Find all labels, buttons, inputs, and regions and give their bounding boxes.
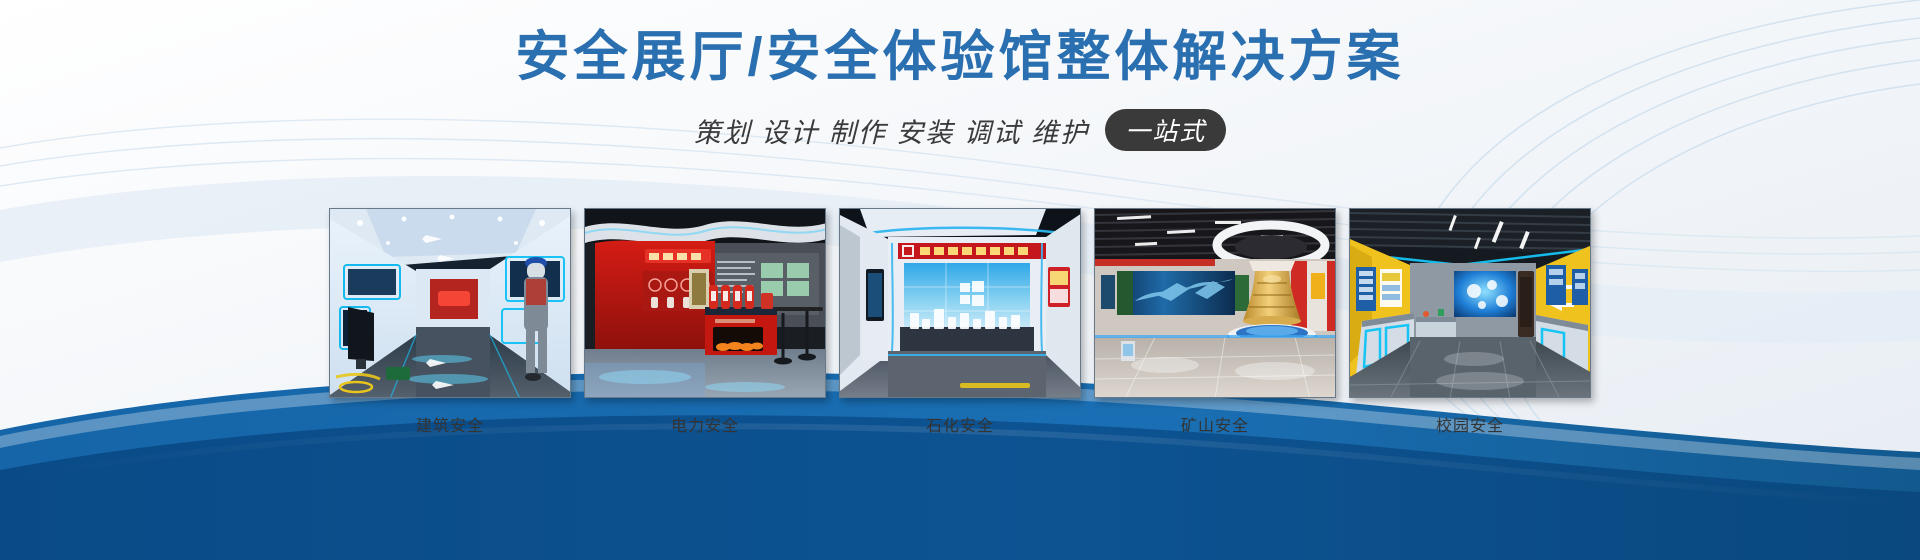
one-stop-badge: 一站式	[1105, 109, 1226, 151]
electric-power-safety-image	[585, 209, 826, 398]
card-caption: 电力安全	[584, 412, 826, 436]
thumbnail-electric-power-safety[interactable]	[584, 208, 826, 398]
petrochemical-safety-image	[840, 209, 1081, 398]
solution-card[interactable]: 电力安全	[584, 208, 826, 436]
subtitle-row: 策划 设计 制作 安装 调试 维护 一站式	[0, 109, 1920, 151]
service-steps-text: 策划 设计 制作 安装 调试 维护	[694, 111, 1090, 150]
solution-card-list: 建筑安全	[0, 208, 1920, 436]
thumbnail-construction-safety[interactable]	[329, 208, 571, 398]
banner-header: 安全展厅/安全体验馆整体解决方案 策划 设计 制作 安装 调试 维护 一站式	[0, 0, 1920, 151]
thumbnail-petrochemical-safety[interactable]	[839, 208, 1081, 398]
solution-card[interactable]: 矿山安全	[1094, 208, 1336, 436]
mine-safety-image	[1095, 209, 1336, 398]
solution-card[interactable]: 石化安全	[839, 208, 1081, 436]
solution-card[interactable]: 建筑安全	[329, 208, 571, 436]
card-caption: 建筑安全	[329, 412, 571, 436]
campus-safety-image	[1350, 209, 1591, 398]
thumbnail-campus-safety[interactable]	[1349, 208, 1591, 398]
banner-root: 安全展厅/安全体验馆整体解决方案 策划 设计 制作 安装 调试 维护 一站式	[0, 0, 1920, 560]
card-caption: 石化安全	[839, 412, 1081, 436]
solution-card[interactable]: 校园安全	[1349, 208, 1591, 436]
construction-safety-image	[330, 209, 571, 398]
thumbnail-mine-safety[interactable]	[1094, 208, 1336, 398]
page-title: 安全展厅/安全体验馆整体解决方案	[0, 28, 1920, 87]
card-caption: 矿山安全	[1094, 412, 1336, 436]
card-caption: 校园安全	[1349, 412, 1591, 436]
